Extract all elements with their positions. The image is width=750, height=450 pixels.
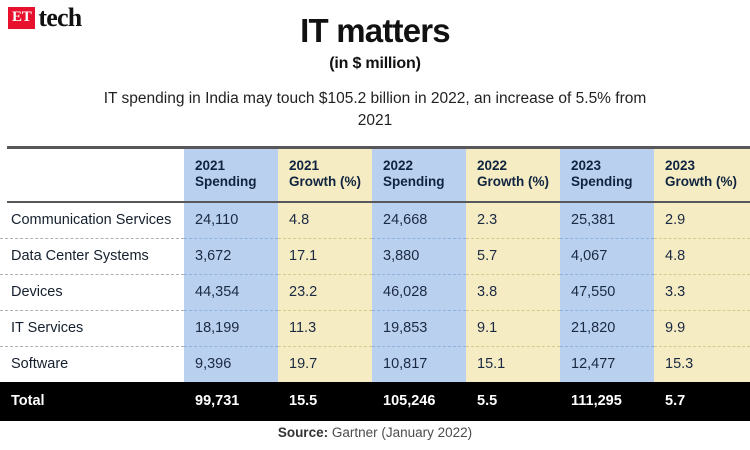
row-label: Communication Services: [0, 203, 184, 239]
table-row[interactable]: Data Center Systems 3,672 17.1 3,880 5.7…: [0, 238, 750, 274]
cell-2023-spending: 4,067: [560, 238, 654, 274]
header-line-2: Growth (%): [477, 174, 549, 189]
standfirst-text: IT spending in India may touch $105.2 bi…: [95, 88, 655, 133]
cell-2022-growth: 5.7: [466, 238, 560, 274]
cell-2023-spending: 25,381: [560, 203, 654, 239]
cell-2022-growth: 2.3: [466, 203, 560, 239]
cell-2023-spending: 21,820: [560, 310, 654, 346]
total-2023-growth: 5.7: [654, 382, 750, 421]
cell-2021-spending: 18,199: [184, 310, 278, 346]
header-line-2: Spending: [383, 174, 445, 189]
row-label: Devices: [0, 274, 184, 310]
total-2021-spending: 99,731: [184, 382, 278, 421]
total-label: Total: [0, 382, 184, 421]
column-header-2021-growth[interactable]: 2021 Growth (%): [278, 149, 372, 201]
row-label: Software: [0, 346, 184, 382]
column-header-2023-growth[interactable]: 2023 Growth (%): [654, 149, 750, 201]
cell-2022-spending: 46,028: [372, 274, 466, 310]
cell-2023-growth: 2.9: [654, 203, 750, 239]
header-line-2: Growth (%): [665, 174, 737, 189]
cell-2023-growth: 15.3: [654, 346, 750, 382]
cell-2023-growth: 4.8: [654, 238, 750, 274]
table-row[interactable]: IT Services 18,199 11.3 19,853 9.1 21,82…: [0, 310, 750, 346]
cell-2023-spending: 47,550: [560, 274, 654, 310]
table-row[interactable]: Devices 44,354 23.2 46,028 3.8 47,550 3.…: [0, 274, 750, 310]
data-table-wrapper: 2021 Spending 2021 Growth (%) 2022 Spend…: [0, 146, 750, 421]
column-header-2022-growth[interactable]: 2022 Growth (%): [466, 149, 560, 201]
header-line-1: 2021: [195, 158, 225, 173]
header-line-1: 2022: [383, 158, 413, 173]
cell-2022-spending: 24,668: [372, 203, 466, 239]
total-2022-spending: 105,246: [372, 382, 466, 421]
table-body: Communication Services 24,110 4.8 24,668…: [0, 203, 750, 421]
header-line-2: Spending: [195, 174, 257, 189]
cell-2021-growth: 4.8: [278, 203, 372, 239]
cell-2021-growth: 23.2: [278, 274, 372, 310]
cell-2021-spending: 44,354: [184, 274, 278, 310]
page-subtitle: (in $ million): [0, 55, 750, 73]
it-spending-table: 2021 Spending 2021 Growth (%) 2022 Spend…: [0, 146, 750, 421]
table-row[interactable]: Communication Services 24,110 4.8 24,668…: [0, 203, 750, 239]
total-2021-growth: 15.5: [278, 382, 372, 421]
source-text: Gartner (January 2022): [332, 425, 472, 440]
cell-2023-growth: 3.3: [654, 274, 750, 310]
cell-2021-growth: 11.3: [278, 310, 372, 346]
cell-2022-spending: 19,853: [372, 310, 466, 346]
source-note: Source: Gartner (January 2022): [0, 425, 750, 440]
header-line-1: 2022: [477, 158, 507, 173]
row-label: Data Center Systems: [0, 238, 184, 274]
cell-2021-growth: 19.7: [278, 346, 372, 382]
cell-2021-spending: 3,672: [184, 238, 278, 274]
table-header-row: 2021 Spending 2021 Growth (%) 2022 Spend…: [0, 149, 750, 201]
cell-2023-growth: 9.9: [654, 310, 750, 346]
cell-2022-growth: 3.8: [466, 274, 560, 310]
cell-2021-spending: 24,110: [184, 203, 278, 239]
column-header-category: [0, 149, 184, 201]
total-2023-spending: 111,295: [560, 382, 654, 421]
cell-2022-spending: 3,880: [372, 238, 466, 274]
cell-2022-spending: 10,817: [372, 346, 466, 382]
cell-2023-spending: 12,477: [560, 346, 654, 382]
source-label: Source:: [278, 425, 328, 440]
column-header-2021-spending[interactable]: 2021 Spending: [184, 149, 278, 201]
table-row[interactable]: Software 9,396 19.7 10,817 15.1 12,477 1…: [0, 346, 750, 382]
cell-2021-spending: 9,396: [184, 346, 278, 382]
column-header-2022-spending[interactable]: 2022 Spending: [372, 149, 466, 201]
table-total-row: Total 99,731 15.5 105,246 5.5 111,295 5.…: [0, 382, 750, 421]
cell-2021-growth: 17.1: [278, 238, 372, 274]
cell-2022-growth: 15.1: [466, 346, 560, 382]
title-block: IT matters (in $ million): [0, 14, 750, 73]
column-header-2023-spending[interactable]: 2023 Spending: [560, 149, 654, 201]
cell-2022-growth: 9.1: [466, 310, 560, 346]
total-2022-growth: 5.5: [466, 382, 560, 421]
header-line-1: 2021: [289, 158, 319, 173]
page-title: IT matters: [0, 14, 750, 49]
header-line-2: Growth (%): [289, 174, 361, 189]
table-head: 2021 Spending 2021 Growth (%) 2022 Spend…: [0, 146, 750, 203]
header-line-1: 2023: [571, 158, 601, 173]
header-line-2: Spending: [571, 174, 633, 189]
header-line-1: 2023: [665, 158, 695, 173]
row-label: IT Services: [0, 310, 184, 346]
